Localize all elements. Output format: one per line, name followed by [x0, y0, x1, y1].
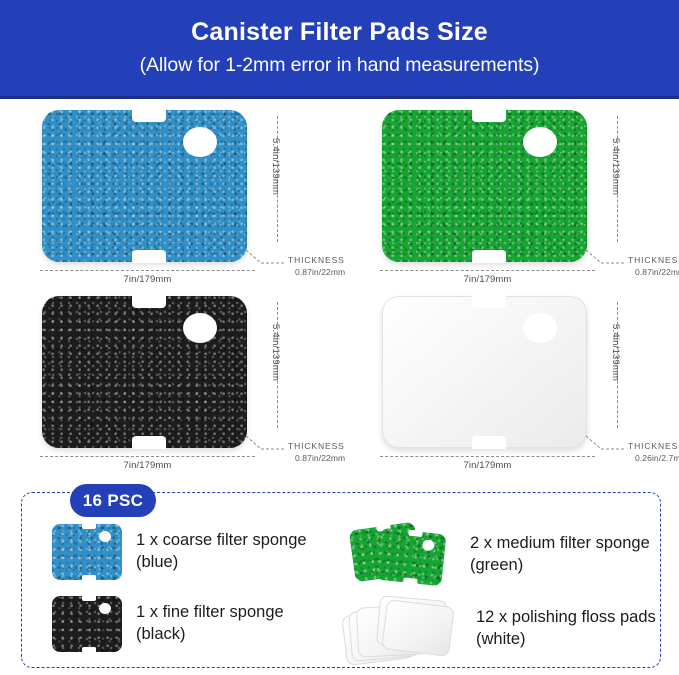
list-item-medium-filter-sponge: 2 x medium filter sponge (green)	[352, 524, 650, 586]
header-banner: Canister Filter Pads Size (Allow for 1-2…	[0, 0, 679, 99]
pad-hole-icon	[99, 603, 111, 614]
page-subtitle: (Allow for 1-2mm error in hand measureme…	[140, 54, 540, 77]
spec-cell-polishing-floss-pad-white: 7in/179mm 5.4in/139mm THICKNESS 0.26in/2…	[340, 288, 679, 474]
thickness-value: 0.87in/22mm	[288, 266, 345, 278]
notch-bottom-icon	[132, 436, 166, 449]
pad-body-green	[382, 110, 587, 262]
list-item-coarse-filter-sponge: 1 x coarse filter sponge (blue)	[52, 524, 307, 580]
height-dimension-label: 5.4in/139mm	[610, 324, 621, 381]
notch-bottom-icon	[82, 575, 96, 581]
height-dimension-label: 5.4in/139mm	[270, 324, 281, 381]
spec-cell-coarse-filter-sponge-blue: 7in/179mm 5.4in/139mm THICKNESS 0.87in/2…	[0, 102, 339, 288]
list-item-label: 1 x coarse filter sponge (blue)	[136, 530, 307, 574]
thickness-label-group: THICKNESS 0.87in/22mm	[288, 440, 345, 465]
thickness-label-group: THICKNESS 0.87in/22mm	[628, 254, 679, 279]
pad-specification-grid: 7in/179mm 5.4in/139mm THICKNESS 0.87in/2…	[0, 102, 679, 474]
width-dimension-label: 7in/179mm	[380, 274, 595, 285]
notch-bottom-icon	[403, 577, 418, 584]
width-dimension-label: 7in/179mm	[40, 460, 255, 471]
list-item-color: (green)	[470, 556, 523, 574]
pad-hole-icon	[183, 127, 217, 157]
list-item-quantity: 1 x fine filter sponge	[136, 603, 284, 621]
height-dimension-label: 5.4in/139mm	[610, 138, 621, 195]
width-dimension-line	[40, 270, 255, 271]
list-item-fine-filter-sponge: 1 x fine filter sponge (black)	[52, 596, 284, 652]
pad-image-green	[382, 110, 587, 262]
thickness-label-group: THICKNESS 0.26in/2.7mm	[628, 440, 679, 465]
notch-bottom-icon	[82, 647, 96, 653]
thickness-value: 0.26in/2.7mm	[628, 452, 679, 464]
page-title: Canister Filter Pads Size	[191, 19, 488, 47]
notch-top-icon	[82, 523, 96, 529]
list-item-quantity: 2 x medium filter sponge	[470, 534, 650, 552]
pad-hole-icon	[183, 313, 217, 343]
width-dimension-line	[380, 456, 595, 457]
swatch-white-pad-stack	[344, 596, 462, 662]
list-item-quantity: 1 x coarse filter sponge	[136, 531, 307, 549]
width-dimension-line	[40, 456, 255, 457]
list-item-color: (white)	[476, 630, 526, 648]
pad-image-black	[42, 296, 247, 448]
status-badge: 16 PSC	[70, 484, 156, 517]
thickness-label-group: THICKNESS 0.87in/22mm	[288, 254, 345, 279]
width-dimension-label: 7in/179mm	[40, 274, 255, 285]
width-dimension-label: 7in/179mm	[380, 460, 595, 471]
list-item-color: (blue)	[136, 553, 178, 571]
notch-top-icon	[132, 109, 166, 122]
pad-hole-icon	[99, 531, 111, 542]
list-item-label: 2 x medium filter sponge (green)	[470, 533, 650, 577]
list-item-polishing-floss-pads: 12 x polishing floss pads (white)	[344, 596, 656, 662]
notch-bottom-icon	[132, 250, 166, 263]
pad-body-white	[382, 296, 587, 448]
thickness-value: 0.87in/22mm	[628, 266, 679, 278]
thickness-leader-line	[245, 435, 285, 453]
swatch-green-sponge-stack	[352, 524, 456, 586]
list-item-quantity: 12 x polishing floss pads	[476, 608, 656, 626]
pad-body-black	[42, 296, 247, 448]
thickness-word: THICKNESS	[288, 441, 345, 451]
pad-image-blue	[42, 110, 247, 262]
thickness-word: THICKNESS	[628, 441, 679, 451]
swatch-black-sponge	[52, 596, 122, 652]
notch-bottom-icon	[472, 250, 506, 263]
pad-hole-icon	[523, 127, 557, 157]
list-item-label: 1 x fine filter sponge (black)	[136, 602, 284, 646]
spec-cell-medium-filter-sponge-green: 7in/179mm 5.4in/139mm THICKNESS 0.87in/2…	[340, 102, 679, 288]
notch-top-icon	[82, 595, 96, 601]
notch-top-icon	[472, 295, 506, 308]
pad-hole-icon	[523, 313, 557, 343]
thickness-leader-line	[245, 249, 285, 267]
list-item-color: (black)	[136, 625, 186, 643]
pad-image-white	[382, 296, 587, 448]
spec-cell-fine-filter-sponge-black: 7in/179mm 5.4in/139mm THICKNESS 0.87in/2…	[0, 288, 339, 474]
list-item-label: 12 x polishing floss pads (white)	[476, 607, 656, 651]
notch-top-icon	[132, 295, 166, 308]
notch-bottom-icon	[472, 436, 506, 449]
thickness-word: THICKNESS	[628, 255, 679, 265]
notch-top-icon	[472, 109, 506, 122]
thickness-leader-line	[585, 435, 625, 453]
width-dimension-line	[380, 270, 595, 271]
thickness-value: 0.87in/22mm	[288, 452, 345, 464]
swatch-blue-sponge	[52, 524, 122, 580]
thickness-word: THICKNESS	[288, 255, 345, 265]
pad-body-blue	[42, 110, 247, 262]
height-dimension-label: 5.4in/139mm	[270, 138, 281, 195]
thickness-leader-line	[585, 249, 625, 267]
